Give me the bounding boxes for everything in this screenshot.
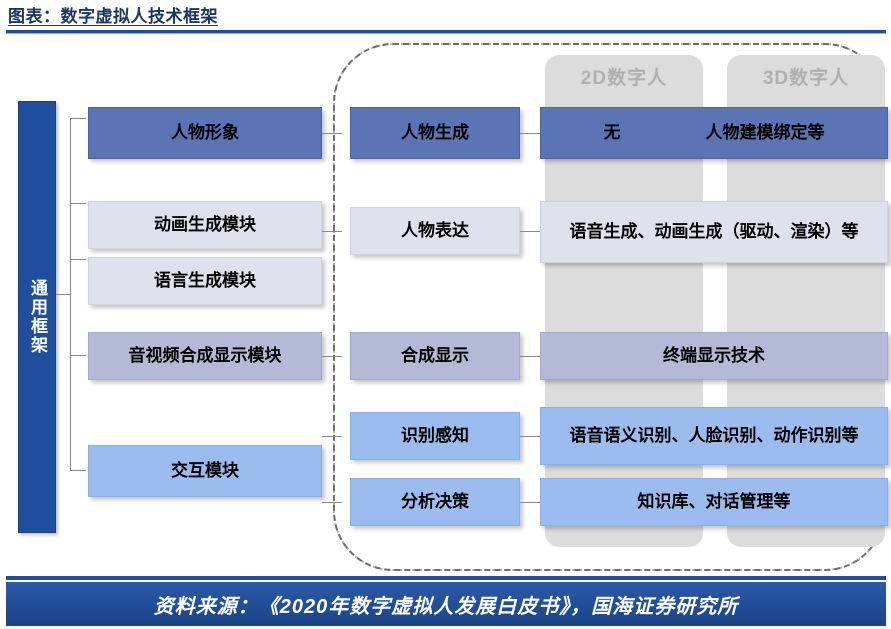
tech-box-modeling[interactable]: 无 人物建模绑定等 bbox=[540, 107, 888, 159]
technology-framework-diagram: 2D数字人 3D数字人 通用框架 动画生成模块 语言生成模块 音视频合成显示模块… bbox=[0, 35, 891, 575]
connector-function-to-tech-3 bbox=[520, 356, 540, 357]
connector-trunk bbox=[70, 118, 71, 470]
function-label: 人物生成 bbox=[401, 122, 469, 143]
connector-module-to-function-2 bbox=[322, 231, 342, 232]
function-label: 分析决策 bbox=[401, 491, 469, 512]
connector-spine-link bbox=[56, 294, 70, 295]
function-label: 人物表达 bbox=[401, 220, 469, 241]
module-box-interaction[interactable]: 交互模块 bbox=[88, 445, 322, 497]
tech-box-expression[interactable]: 语音生成、动画生成（驱动、渲染）等 bbox=[540, 201, 888, 263]
connector-branch-1 bbox=[70, 118, 86, 119]
function-box-recognition[interactable]: 识别感知 bbox=[350, 412, 520, 460]
connector-module-to-function-5 bbox=[322, 502, 342, 503]
module-label: 动画生成模块 bbox=[154, 214, 256, 235]
connector-branch-3 bbox=[70, 259, 86, 260]
source-band: 资料来源：《2020年数字虚拟人发展白皮书》，国海证券研究所 bbox=[6, 582, 886, 626]
connector-branch-5 bbox=[70, 470, 86, 471]
tech-label-3d: 人物建模绑定等 bbox=[706, 122, 825, 143]
tech-box-display[interactable]: 终端显示技术 bbox=[540, 332, 888, 380]
framework-spine-label: 通用框架 bbox=[19, 102, 55, 532]
function-box-decision[interactable]: 分析决策 bbox=[350, 478, 520, 526]
function-label: 识别感知 bbox=[401, 425, 469, 446]
tech-label-2d: 无 bbox=[604, 122, 621, 143]
category-column-2d-label: 2D数字人 bbox=[545, 63, 703, 90]
module-box-av-synthesis[interactable]: 音视频合成显示模块 bbox=[88, 332, 322, 380]
module-box-language[interactable]: 语言生成模块 bbox=[88, 257, 322, 305]
connector-function-to-tech-5 bbox=[520, 502, 540, 503]
category-column-3d-label: 3D数字人 bbox=[727, 63, 885, 90]
connector-function-to-tech-2 bbox=[520, 231, 540, 232]
connector-function-to-tech-4 bbox=[520, 436, 540, 437]
connector-module-to-function-1 bbox=[322, 133, 342, 134]
connector-branch-4 bbox=[70, 355, 86, 356]
tech-box-recognition[interactable]: 语音语义识别、人脸识别、动作识别等 bbox=[540, 407, 888, 465]
tech-box-decision[interactable]: 知识库、对话管理等 bbox=[540, 478, 888, 526]
module-label: 语言生成模块 bbox=[154, 270, 256, 291]
module-box-animation[interactable]: 动画生成模块 bbox=[88, 201, 322, 249]
connector-branch-2 bbox=[70, 203, 86, 204]
tech-label: 语音生成、动画生成（驱动、渲染）等 bbox=[570, 221, 859, 242]
title-bar: 图表：数字虚拟人技术框架 bbox=[8, 2, 883, 30]
connector-function-to-tech-1 bbox=[520, 133, 540, 134]
module-label: 音视频合成显示模块 bbox=[129, 345, 282, 366]
function-box-expression[interactable]: 人物表达 bbox=[350, 207, 520, 255]
function-box-synthesis-display[interactable]: 合成显示 bbox=[350, 332, 520, 380]
connector-module-to-function-3 bbox=[322, 356, 342, 357]
page-title: 图表：数字虚拟人技术框架 bbox=[8, 7, 218, 26]
connector-module-to-function-4 bbox=[322, 436, 342, 437]
tech-label: 终端显示技术 bbox=[663, 345, 765, 366]
module-label: 交互模块 bbox=[171, 460, 239, 481]
function-label: 合成显示 bbox=[401, 345, 469, 366]
tech-label: 语音语义识别、人脸识别、动作识别等 bbox=[570, 425, 859, 446]
module-label: 人物形象 bbox=[171, 122, 239, 143]
footer-divider bbox=[6, 576, 886, 580]
framework-spine: 通用框架 bbox=[18, 101, 56, 533]
source-text: 资料来源：《2020年数字虚拟人发展白皮书》，国海证券研究所 bbox=[154, 590, 739, 619]
title-divider bbox=[6, 30, 886, 34]
function-box-generation[interactable]: 人物生成 bbox=[350, 107, 520, 159]
tech-label: 知识库、对话管理等 bbox=[638, 491, 791, 512]
module-box-character-image[interactable]: 人物形象 bbox=[88, 107, 322, 159]
